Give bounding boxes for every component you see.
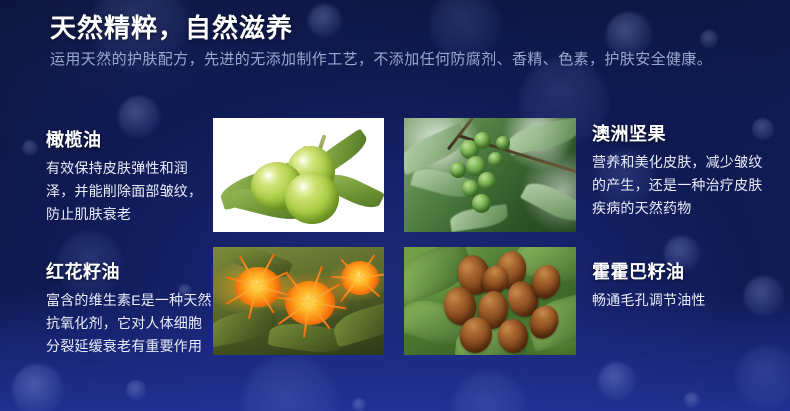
feature-image-safflower [213,247,384,355]
feature-description-jojoba: 畅通毛孔调节油性 [592,289,772,312]
promo-banner: 天然精粹，自然滋养 运用天然的护肤配方，先进的无添加制作工艺，不添加任何防腐剂、… [0,0,790,411]
feature-title-macadamia: 澳洲坚果 [592,120,772,146]
feature-image-jojoba [404,247,576,355]
feature-block-jojoba: 霍霍巴籽油 畅通毛孔调节油性 [592,258,772,312]
feature-title-jojoba: 霍霍巴籽油 [592,258,772,284]
feature-block-macadamia: 澳洲坚果 营养和美化皮肤，减少皱纹的产生，还是一种治疗皮肤疾病的天然药物 [592,120,772,220]
feature-description-safflower: 富含的维生素E是一种天然抗氧化剂，它对人体细胞分裂延缓衰老有重要作用 [46,289,214,358]
feature-block-olive: 橄榄油 有效保持皮肤弹性和润泽，并能削除面部皱纹，防止肌肤衰老 [46,126,214,226]
banner-subheadline: 运用天然的护肤配方，先进的无添加制作工艺，不添加任何防腐剂、香精、色素，护肤安全… [50,48,712,69]
feature-description-olive: 有效保持皮肤弹性和润泽，并能削除面部皱纹，防止肌肤衰老 [46,157,214,226]
feature-image-olive [213,118,384,232]
feature-title-safflower: 红花籽油 [46,258,214,284]
feature-title-olive: 橄榄油 [46,126,214,152]
feature-description-macadamia: 营养和美化皮肤，减少皱纹的产生，还是一种治疗皮肤疾病的天然药物 [592,151,772,220]
feature-block-safflower: 红花籽油 富含的维生素E是一种天然抗氧化剂，它对人体细胞分裂延缓衰老有重要作用 [46,258,214,358]
banner-headline: 天然精粹，自然滋养 [50,8,293,45]
feature-image-macadamia [404,118,576,232]
